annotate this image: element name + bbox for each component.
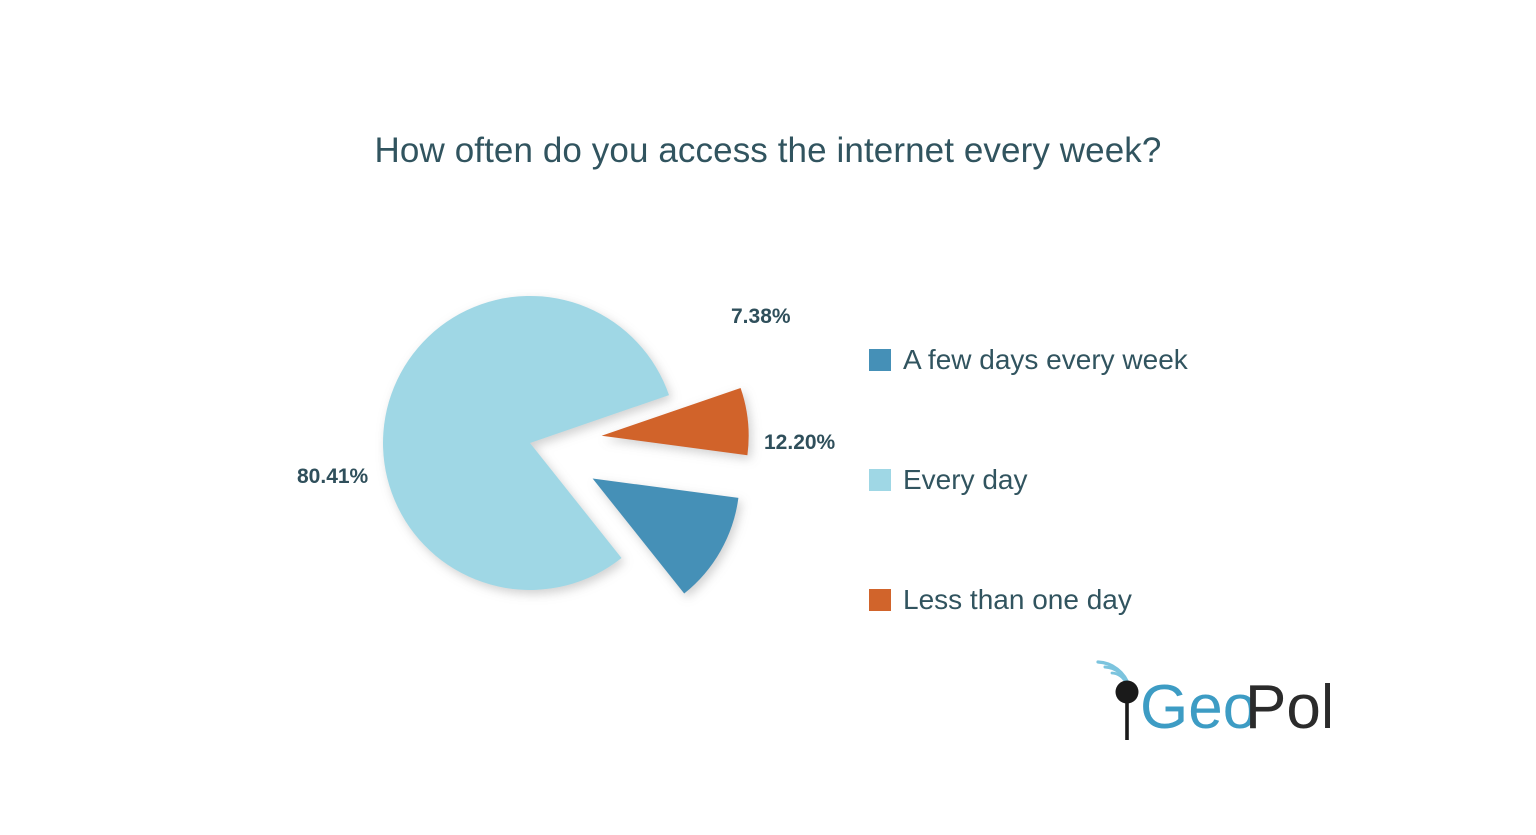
data-label-less-than-one-day: 7.38% (731, 305, 791, 329)
page-title: How often do you access the internet eve… (0, 130, 1536, 172)
pie-slice-every-day[interactable] (383, 296, 669, 590)
data-label-a-few-days: 12.20% (764, 431, 835, 455)
legend-item-a-few-days-every-week[interactable]: A few days every week (869, 300, 1389, 420)
legend-item-less-than-one-day[interactable]: Less than one day (869, 540, 1389, 660)
logo-text-geo: Geo (1140, 673, 1257, 742)
pie-slice-a-few-days-every-week[interactable] (593, 479, 739, 594)
legend-swatch-icon-every-day (869, 469, 891, 491)
legend-item-every-day[interactable]: Every day (869, 420, 1389, 540)
chart-legend: A few days every week Every day Less tha… (869, 300, 1389, 660)
slide-canvas: How often do you access the internet eve… (0, 0, 1536, 835)
data-label-every-day: 80.41% (297, 465, 368, 489)
geopoll-logo-svg: Geo Poll (1085, 650, 1330, 745)
geopoll-logo: Geo Poll (1085, 650, 1330, 745)
legend-label-every-day: Every day (903, 466, 1028, 494)
legend-label-less-than-one-day: Less than one day (903, 586, 1132, 614)
legend-swatch-icon-less-than-one-day (869, 589, 891, 611)
logo-text-poll: Poll (1245, 673, 1330, 742)
legend-label-a-few-days: A few days every week (903, 346, 1188, 374)
legend-swatch-icon-a-few-days (869, 349, 891, 371)
antenna-mast-icon (1116, 681, 1139, 741)
